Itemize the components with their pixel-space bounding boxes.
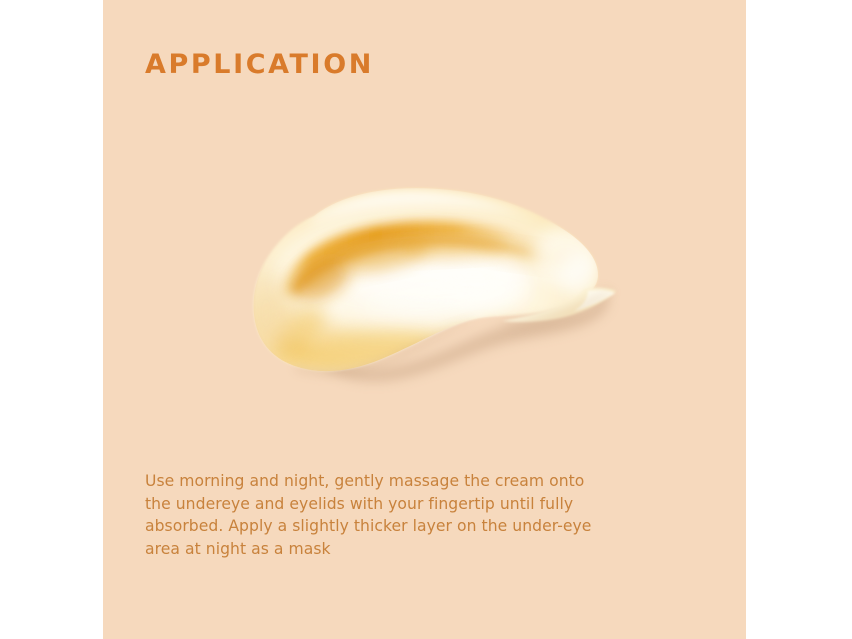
page-title: APPLICATION bbox=[145, 49, 374, 81]
swatch-body bbox=[236, 188, 616, 385]
instruction-line: area at night as a mask bbox=[145, 538, 665, 561]
instruction-line: Use morning and night, gently massage th… bbox=[145, 470, 665, 493]
cream-swatch-image bbox=[236, 183, 626, 401]
product-application-card: APPLICATION bbox=[0, 0, 852, 639]
instruction-line: absorbed. Apply a slightly thicker layer… bbox=[145, 515, 665, 538]
instruction-line: the undereye and eyelids with your finge… bbox=[145, 493, 665, 516]
application-instructions: Use morning and night, gently massage th… bbox=[145, 470, 665, 560]
